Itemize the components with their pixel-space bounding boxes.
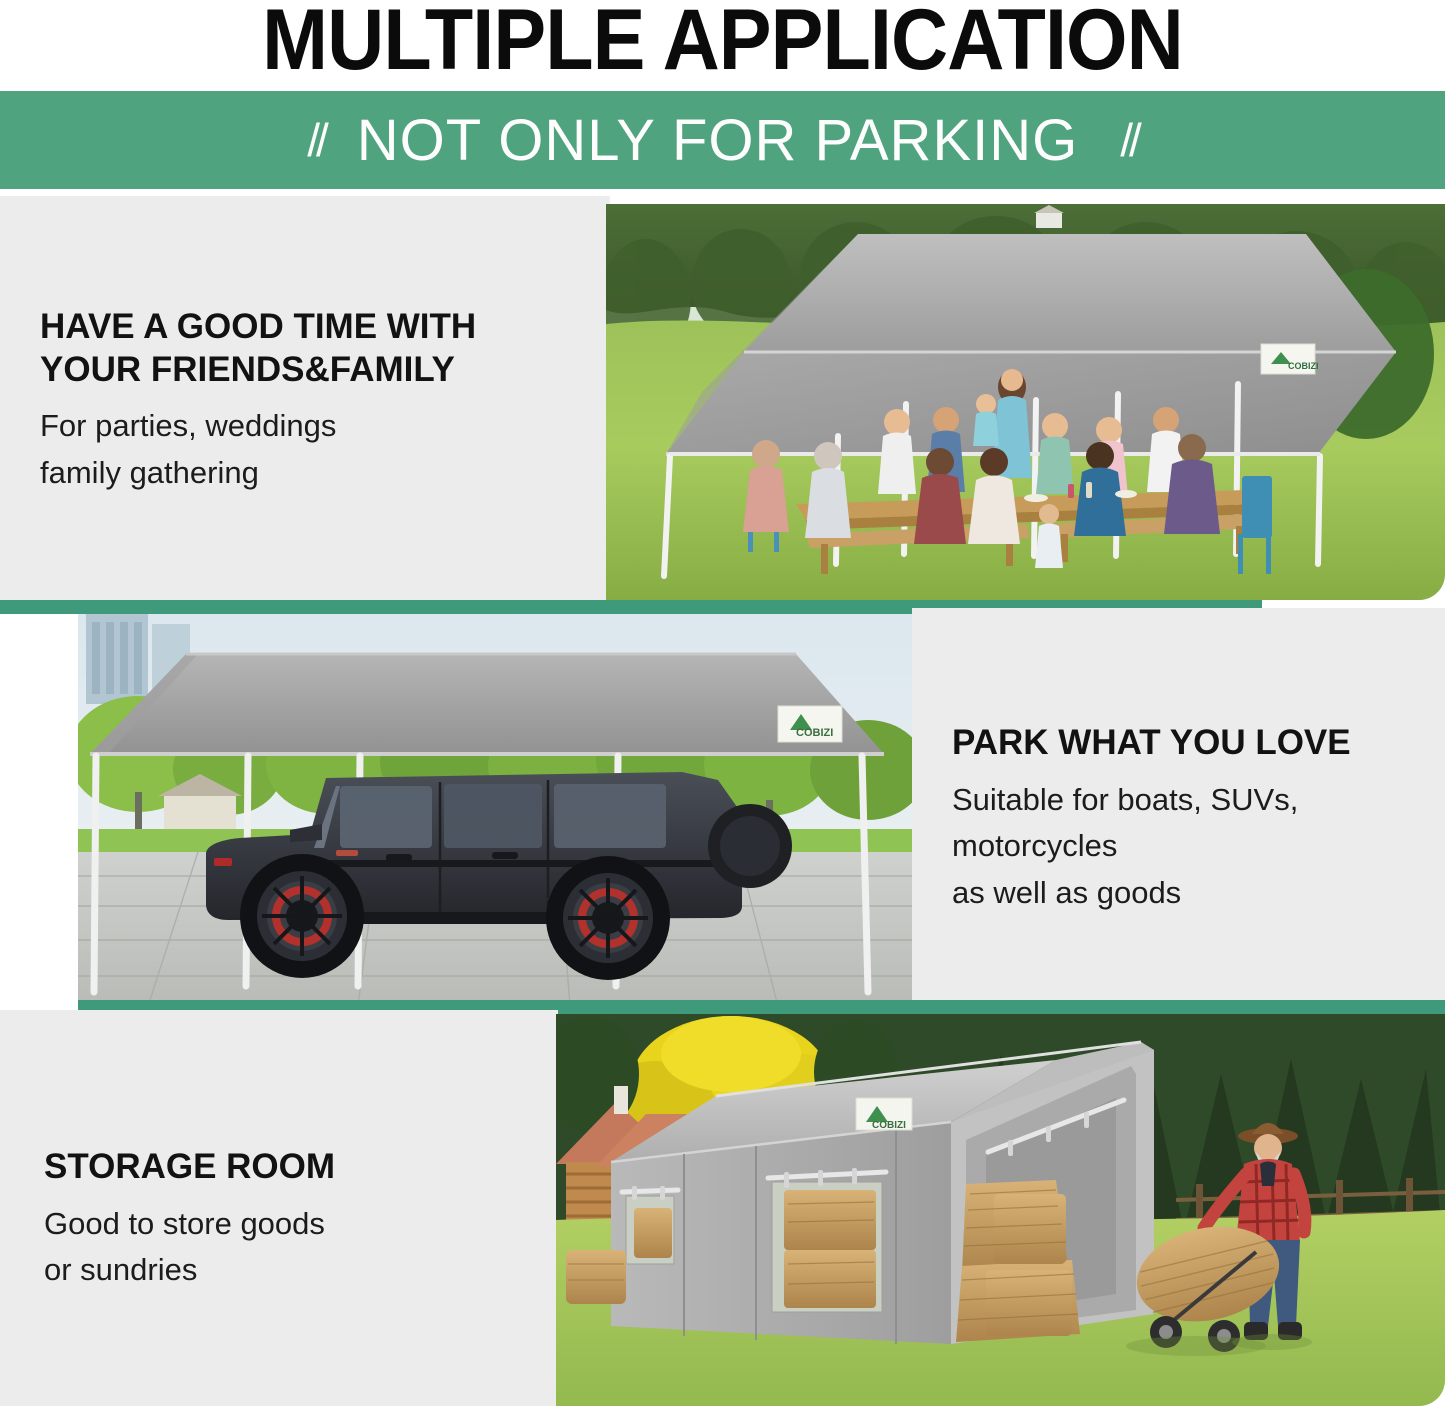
section-1-text-block: HAVE A GOOD TIME WITH YOUR FRIENDS&FAMIL… — [40, 306, 600, 499]
section-1-subtext-line-2: family gathering — [40, 452, 600, 495]
section-1-heading-line-1: HAVE A GOOD TIME WITH — [40, 306, 600, 349]
slash-left-icon: // — [307, 113, 325, 167]
section-2-subtext-line-2: motorcycles — [952, 825, 1432, 868]
header-green-bar: // NOT ONLY FOR PARKING // — [0, 91, 1445, 189]
section-3-photo: COBIZI — [556, 1014, 1445, 1406]
photo-3-illustration: COBIZI — [556, 1014, 1445, 1406]
section-2-photo: COBIZI — [78, 614, 912, 1006]
svg-text:COBIZI: COBIZI — [872, 1120, 906, 1131]
section-3-subtext-line-1: Good to store goods — [44, 1203, 544, 1246]
section-1-subtext-line-1: For parties, weddings — [40, 405, 600, 448]
svg-text:COBIZI: COBIZI — [1288, 361, 1319, 371]
section-2-heading: PARK WHAT YOU LOVE — [952, 722, 1432, 765]
infographic-page: MULTIPLE APPLICATION // NOT ONLY FOR PAR… — [0, 0, 1445, 1406]
section-3-subtext-line-2: or sundries — [44, 1249, 544, 1292]
section-1-subtext: For parties, weddings family gathering — [40, 405, 600, 495]
header-subtitle-row: // NOT ONLY FOR PARKING // — [0, 91, 1445, 189]
section-2-text-block: PARK WHAT YOU LOVE Suitable for boats, S… — [952, 722, 1432, 919]
section-3-text-block: STORAGE ROOM Good to store goods or sund… — [44, 1146, 544, 1296]
section-3-heading-line-1: STORAGE ROOM — [44, 1146, 544, 1189]
section-2-subtext-line-1: Suitable for boats, SUVs, — [952, 779, 1432, 822]
section-1-photo: COBIZI — [606, 204, 1445, 600]
section-2-subtext: Suitable for boats, SUVs, motorcycles as… — [952, 779, 1432, 915]
section-2-subtext-line-3: as well as goods — [952, 872, 1432, 915]
section-2-heading-line-1: PARK WHAT YOU LOVE — [952, 722, 1432, 765]
section-1-heading-line-2: YOUR FRIENDS&FAMILY — [40, 349, 600, 392]
section-3-subtext: Good to store goods or sundries — [44, 1203, 544, 1293]
section-1-heading: HAVE A GOOD TIME WITH YOUR FRIENDS&FAMIL… — [40, 306, 600, 391]
page-title: MULTIPLE APPLICATION — [58, 0, 1387, 86]
photo-2-illustration: COBIZI — [78, 614, 912, 1006]
slash-right-icon: // — [1120, 113, 1138, 167]
svg-text:COBIZI: COBIZI — [796, 727, 833, 739]
section-3-heading: STORAGE ROOM — [44, 1146, 544, 1189]
photo-1-illustration: COBIZI — [606, 204, 1445, 600]
header-subtitle: NOT ONLY FOR PARKING — [357, 107, 1079, 174]
